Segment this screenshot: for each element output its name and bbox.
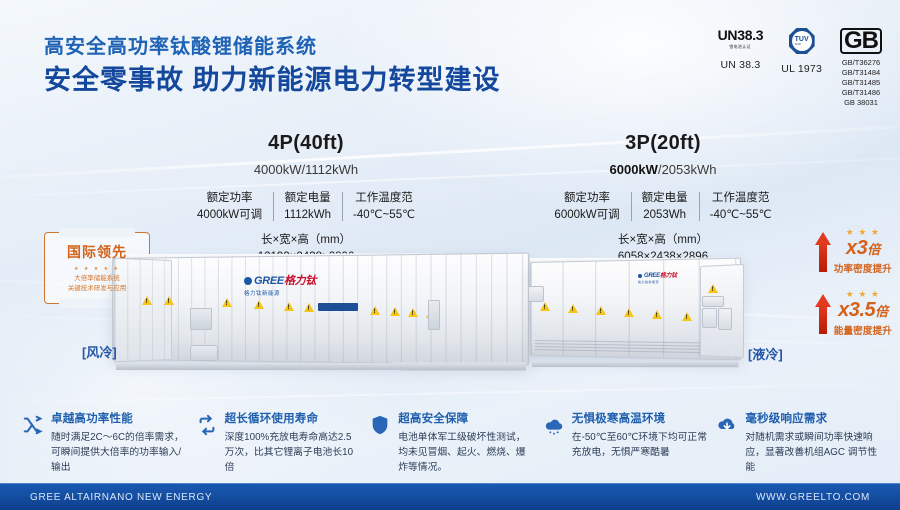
gree-logo-subtitle: 格力钛新能源: [638, 280, 677, 284]
gb-mark-icon: GB: [840, 28, 882, 54]
hazard-warning-icon: [682, 312, 692, 321]
cooling-tag-liquid: [液冷]: [748, 344, 783, 363]
spec-key: 额定功率: [197, 190, 262, 207]
spec-value: -40℃~55℃: [710, 207, 772, 224]
hazard-warning-icon: [142, 296, 152, 305]
page-title: 高安全高功率钛酸锂储能系统 安全零事故 助力新能源电力转型建设: [44, 36, 501, 96]
multiplier-number: x3.5: [838, 299, 875, 321]
product-name: 3P(20ft): [498, 132, 828, 155]
feature-description: 深度100%充放电寿命高达2.5万次，比其它锂离子电池长10倍: [225, 430, 362, 476]
multiplier-callout-energy-density: ★ ★ ★ x3.5倍 能量密度提升: [815, 290, 892, 337]
multiplier-callout-power-density: ★ ★ ★ x3倍 功率密度提升: [815, 228, 892, 275]
spec-value: 6000kW可调: [554, 207, 619, 224]
title-line-1: 高安全高功率钛酸锂储能系统: [44, 36, 501, 59]
product-name: 4P(40ft): [118, 132, 494, 155]
hazard-warning-icon: [222, 298, 232, 307]
product-headline: 6000kW/2053kWh: [498, 162, 828, 177]
multiplier-unit: 倍: [867, 242, 880, 257]
spec-key: 额定功率: [554, 190, 619, 207]
gree-logo-cn: 格力钛: [660, 273, 677, 279]
hazard-warning-icon: [540, 302, 550, 311]
gb-standard-list: GB/T36276 GB/T31484 GB/T31485 GB/T31486 …: [842, 58, 880, 109]
dimensions-label: 长×宽×高（mm）: [118, 232, 494, 249]
gb-standard-item: GB/T31485: [842, 78, 880, 88]
spec-value: -40℃~55℃: [353, 207, 415, 224]
background-swoosh-line: [0, 381, 900, 405]
cloud-download-icon: [716, 414, 738, 436]
product-block-4p: 4P(40ft) 4000kW/1112kWh 额定功率 4000kW可调 额定…: [118, 132, 494, 266]
star-decoration-icon: ★ ★ ★: [846, 290, 880, 299]
feature-title: 超高安全保障: [398, 412, 535, 427]
feature-description: 随时满足2C～6C的倍率需求，可瞬间提供大倍率的功率输入/输出: [51, 430, 188, 476]
footer-website[interactable]: WWW.GREELTO.COM: [756, 492, 870, 503]
hazard-warning-icon: [304, 303, 314, 312]
gb-standard-item: GB/T36276: [842, 58, 880, 68]
arrow-up-icon: [815, 232, 831, 272]
arrow-up-icon: [815, 294, 831, 334]
leading-badge-title: 国际领先: [67, 242, 127, 262]
spec-cell: 工作温度范 -40℃~55℃: [342, 190, 426, 223]
hazard-warning-icon: [390, 307, 400, 316]
control-panel-display: [702, 296, 724, 307]
container-base: [116, 363, 526, 371]
container-info-label: [318, 303, 358, 311]
spec-value: 1112kWh: [284, 207, 331, 224]
product-headline-energy: 2053kWh: [662, 162, 717, 177]
multiplier-unit: 倍: [875, 304, 888, 319]
spec-value: 2053Wh: [642, 207, 688, 224]
hazard-warning-icon: [408, 308, 418, 317]
multiplier-caption: 功率密度提升: [834, 261, 892, 275]
star-rating-icon: ★ ★ ★ ★ ★: [74, 266, 120, 272]
spec-value: 4000kW可调: [197, 207, 262, 224]
hazard-warning-icon: [370, 306, 380, 315]
tuv-badge-icon: TUVSUD: [789, 28, 815, 54]
cloud-snow-icon: [543, 414, 565, 436]
hazard-warning-icon: [708, 284, 718, 293]
gb-standard-item: GB/T31486: [842, 88, 880, 98]
feature-description: 对随机需求或瞬间功率快速响应，显著改善机组AGC 调节性能: [745, 430, 882, 476]
hazard-warning-icon: [254, 300, 264, 309]
container-image-20ft: GREE格力钛 格力钛新能源: [530, 256, 746, 368]
spec-key: 工作温度范: [353, 190, 415, 207]
leading-badge-subtitle-line2: 关键技术研发与应用: [68, 284, 127, 294]
multiplier-value: x3.5倍: [838, 300, 887, 320]
spec-key: 工作温度范: [710, 190, 772, 207]
hazard-warning-icon: [596, 306, 606, 315]
gree-logo-brand: GREE: [644, 273, 660, 279]
gree-logo: GREE格力钛 格力钛新能源: [638, 270, 677, 284]
feature-description: 在-50℃至60℃环境下均可正常充放电，无惧严寒酷暑: [572, 430, 709, 460]
control-panel-screen: [702, 308, 717, 328]
hazard-warning-icon: [164, 296, 174, 305]
product-spec-table: 额定功率 6000kW可调 额定电量 2053Wh 工作温度范 -40℃~55℃: [498, 190, 828, 223]
hazard-warning-icon: [284, 302, 294, 311]
spec-cell: 额定功率 4000kW可调: [186, 190, 273, 223]
certification-un383: UN38.3 锂电池认证 UN 38.3: [718, 28, 764, 71]
hazard-warning-icon: [652, 310, 662, 319]
multiplier-value: x3倍: [846, 238, 880, 258]
un-mark-subtext: 锂电池认证: [730, 44, 752, 49]
gree-logo-mark: GREE格力钛: [244, 272, 316, 288]
container-vent: [190, 308, 212, 330]
container-vent: [428, 300, 440, 330]
feature-title: 无惧极寒高温环境: [572, 412, 709, 427]
gb-standard-item: GB/T31484: [842, 68, 880, 78]
multiplier-caption: 能量密度提升: [834, 323, 892, 337]
container-image-40ft: GREE格力钛 格力钛新能源: [112, 250, 510, 372]
feature-list: 卓越高功率性能 随时满足2C～6C的倍率需求，可瞬间提供大倍率的功率输入/输出 …: [22, 412, 882, 475]
certification-caption: UL 1973: [781, 63, 822, 75]
title-line-2: 安全零事故 助力新能源电力转型建设: [44, 64, 501, 96]
certification-caption: UN 38.3: [720, 59, 760, 71]
feature-title: 超长循环使用寿命: [225, 412, 362, 427]
gb-standard-item: GB 38031: [842, 98, 880, 108]
feature-item-temperature: 无惧极寒高温环境 在-50℃至60℃环境下均可正常充放电，无惧严寒酷暑: [543, 412, 709, 475]
feature-item-long-life: 超长循环使用寿命 深度100%充放电寿命高达2.5万次，比其它锂离子电池长10倍: [196, 412, 362, 475]
spec-cell: 额定电量 1112kWh: [273, 190, 342, 223]
star-decoration-icon: ★ ★ ★: [846, 228, 880, 237]
container-side-vent: [528, 286, 544, 302]
container-base: [532, 361, 738, 368]
spec-key: 额定电量: [284, 190, 331, 207]
footer-bar: GREE ALTAIRNANO NEW ENERGY WWW.GREELTO.C…: [0, 483, 900, 510]
product-headline-energy: 1112kWh: [305, 162, 358, 177]
gree-logo-subtitle: 格力钛新能源: [244, 289, 316, 297]
gree-logo-cn: 格力钛: [284, 275, 316, 287]
gree-logo-mark: GREE格力钛: [638, 270, 677, 279]
certification-badges: UN38.3 锂电池认证 UN 38.3 TUVSUD UL 1973 GB G…: [718, 28, 882, 108]
product-block-3p: 3P(20ft) 6000kW/2053kWh 额定功率 6000kW可调 额定…: [498, 132, 828, 266]
spec-cell: 额定电量 2053Wh: [631, 190, 699, 223]
feature-item-safety: 超高安全保障 电池单体军工级破坏性测试，均未见冒烟、起火、燃烧、爆炸等情况。: [369, 412, 535, 475]
product-spec-table: 额定功率 4000kW可调 额定电量 1112kWh 工作温度范 -40℃~55…: [118, 190, 494, 223]
dimensions-label: 长×宽×高（mm）: [498, 232, 828, 249]
footer-company-name: GREE ALTAIRNANO NEW ENERGY: [30, 492, 212, 503]
product-headline-power: 6000kW: [610, 162, 658, 177]
hazard-warning-icon: [624, 308, 634, 317]
feature-description: 电池单体军工级破坏性测试，均未见冒烟、起火、燃烧、爆炸等情况。: [398, 430, 535, 476]
spec-cell: 工作温度范 -40℃~55℃: [699, 190, 783, 223]
feature-title: 卓越高功率性能: [51, 412, 188, 427]
container-ac-unit: [190, 345, 218, 361]
feature-item-fast-response: 毫秒级响应需求 对随机需求或瞬间功率快速响应，显著改善机组AGC 调节性能: [716, 412, 882, 475]
shuffle-icon: [22, 414, 44, 436]
hazard-warning-icon: [568, 304, 578, 313]
feature-title: 毫秒级响应需求: [745, 412, 882, 427]
product-headline-power: 4000kW: [254, 162, 302, 177]
control-panel-module: [718, 308, 732, 330]
cooling-tag-air: [风冷]: [82, 342, 117, 361]
certification-gb: GB GB/T36276 GB/T31484 GB/T31485 GB/T314…: [840, 28, 882, 108]
shield-icon: [369, 414, 391, 436]
un-mark-icon: UN38.3: [718, 28, 764, 42]
leading-badge-subtitle-line1: 大倍率储能系统: [68, 274, 127, 284]
product-headline: 4000kW/1112kWh: [118, 162, 494, 177]
spec-cell: 额定功率 6000kW可调: [543, 190, 630, 223]
poster-canvas: 高安全高功率钛酸锂储能系统 安全零事故 助力新能源电力转型建设 UN38.3 锂…: [0, 0, 900, 510]
spec-key: 额定电量: [642, 190, 688, 207]
gree-logo-brand: GREE: [254, 275, 284, 287]
certification-ul1973: TUVSUD UL 1973: [781, 28, 822, 75]
multiplier-number: x3: [846, 237, 867, 259]
leading-badge-subtitle: 大倍率储能系统 关键技术研发与应用: [68, 274, 127, 294]
gree-logo: GREE格力钛 格力钛新能源: [244, 272, 316, 297]
feature-item-high-power: 卓越高功率性能 随时满足2C～6C的倍率需求，可瞬间提供大倍率的功率输入/输出: [22, 412, 188, 475]
loop-arrows-icon: [196, 414, 218, 436]
